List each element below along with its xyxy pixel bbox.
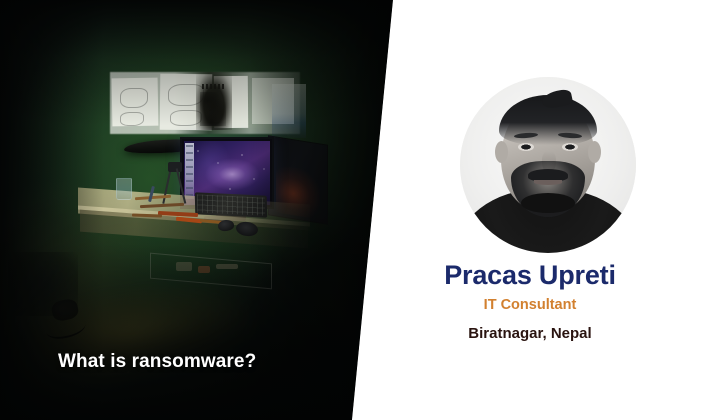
avatar-eye [562,143,578,151]
caption-text: What is ransomware? [58,351,256,373]
shelf-item [176,262,192,271]
profile-card: What is ransomware? Pracas Upreti IT Con… [0,0,720,420]
avatar [460,77,636,253]
avatar-ear [588,141,601,163]
tripod-icon [160,162,190,206]
shelf-item [216,264,238,269]
person-role: IT Consultant [340,297,720,313]
avatar-eye [518,143,534,151]
shelf-item [198,266,210,273]
poster-artwork [200,92,226,126]
avatar-ear [495,141,508,163]
avatar-collar [521,193,575,213]
wall-poster-blue [272,84,306,138]
paper-sketch-drawing [120,112,144,126]
paper-sketch-drawing [120,88,148,108]
person-location: Biratnagar, Nepal [340,325,720,342]
avatar-mouth [534,180,562,185]
drinking-glass-icon [116,178,132,200]
poster-title-text [202,84,224,89]
person-name: Pracas Upreti [340,260,720,291]
keyboard-icon [195,192,267,218]
tripod-head [168,162,182,172]
